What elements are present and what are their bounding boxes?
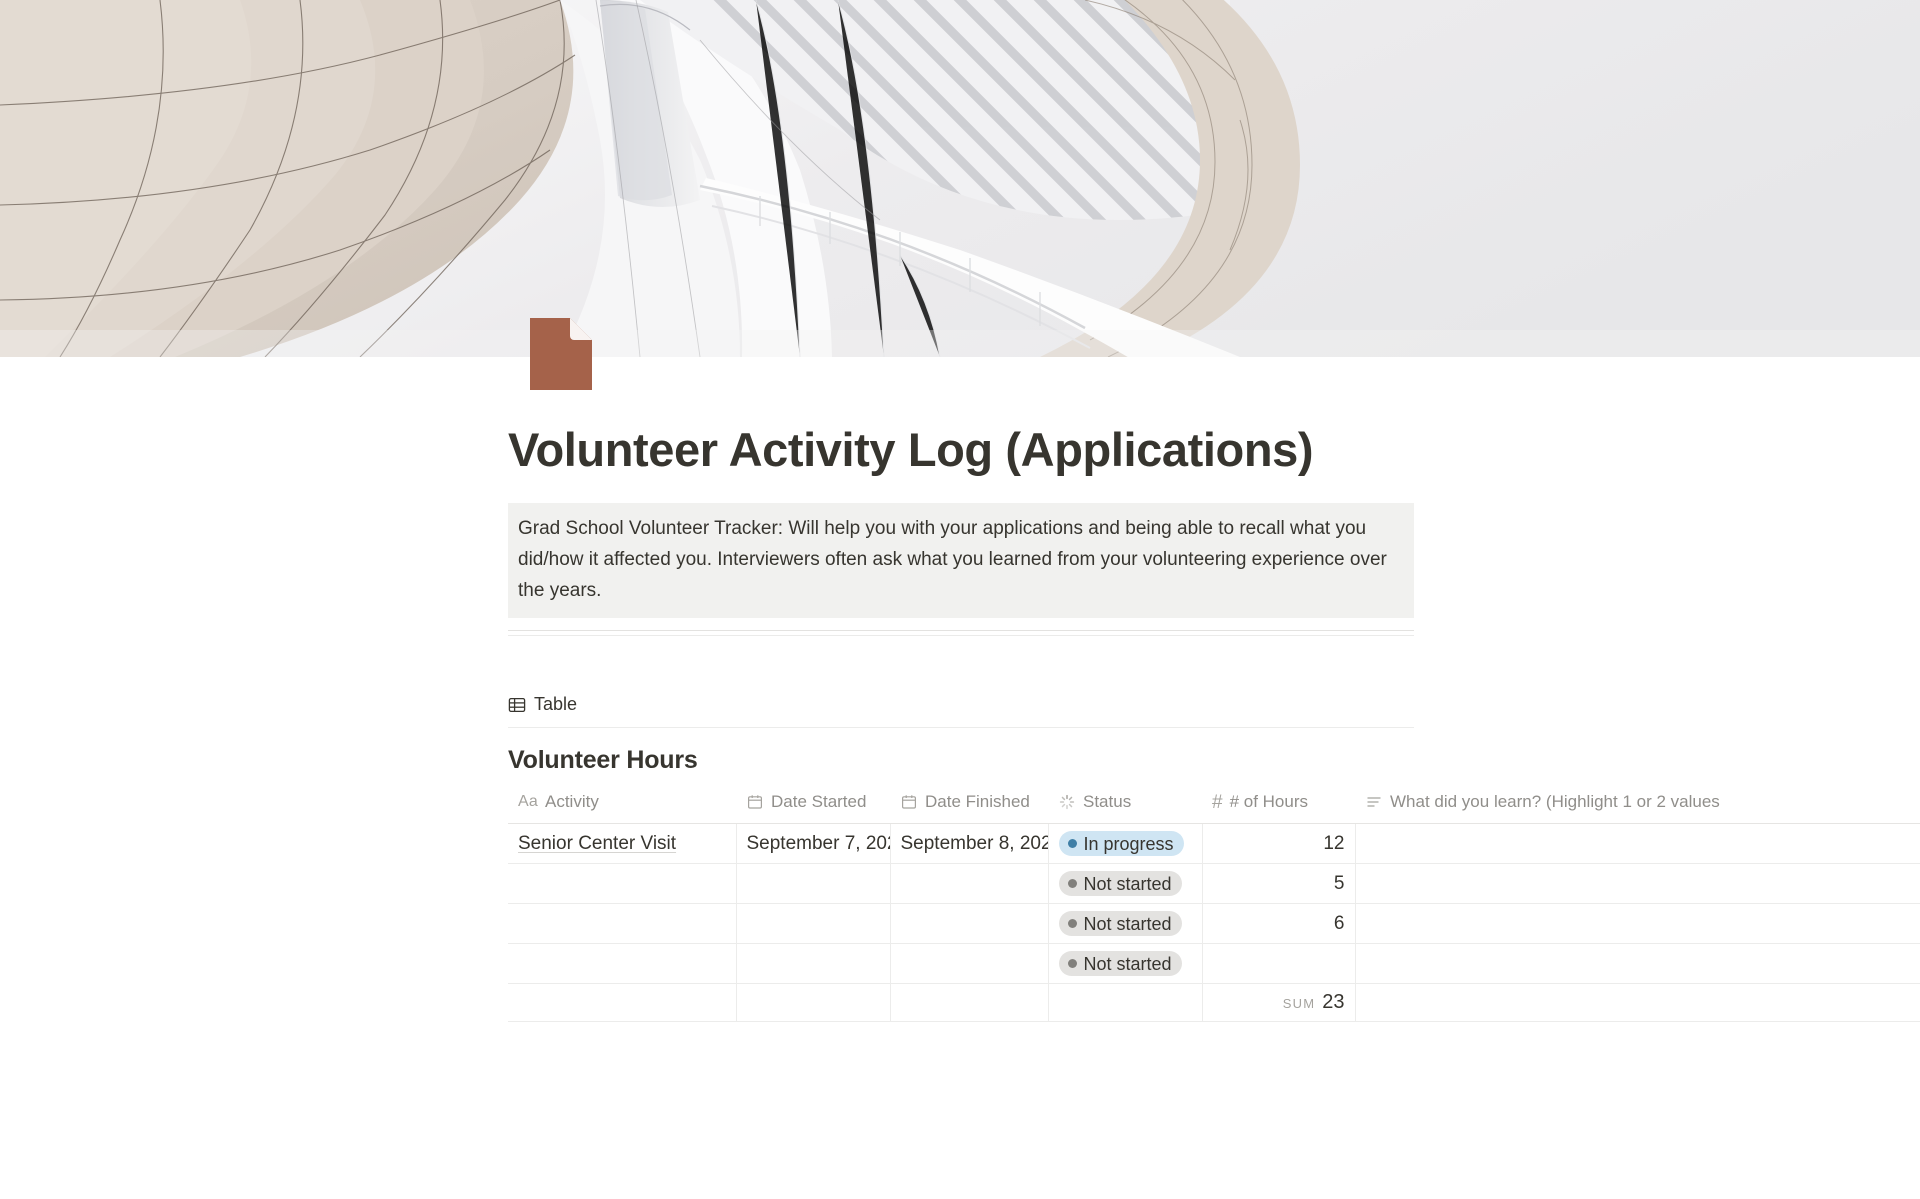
- cell-hours[interactable]: [1202, 944, 1355, 984]
- footer-spacer-activity: [508, 984, 736, 1022]
- sum-label: SUM: [1283, 996, 1316, 1011]
- table-body: Senior Center Visit September 7, 2024 Se…: [508, 824, 1920, 1022]
- cell-activity[interactable]: [508, 864, 736, 904]
- database-title[interactable]: Volunteer Hours: [508, 746, 1414, 775]
- status-badge-label: Not started: [1084, 955, 1172, 973]
- status-dot-icon: [1068, 959, 1077, 968]
- table-row[interactable]: Senior Center Visit September 7, 2024 Se…: [508, 824, 1920, 864]
- volunteer-hours-table: Aa Activity: [508, 788, 1920, 1022]
- status-dot-icon: [1068, 919, 1077, 928]
- status-dot-icon: [1068, 839, 1077, 848]
- content-divider: [508, 630, 1414, 631]
- table-row[interactable]: Not started 5: [508, 864, 1920, 904]
- table-row[interactable]: Not started 6: [508, 904, 1920, 944]
- cell-learned[interactable]: [1355, 864, 1920, 904]
- calendar-icon: [746, 793, 764, 811]
- notion-page: Volunteer Activity Log (Applications) Gr…: [0, 0, 1920, 1199]
- column-header-status[interactable]: Status: [1048, 788, 1202, 824]
- cell-date-finished[interactable]: [890, 944, 1048, 984]
- status-badge-label: Not started: [1084, 875, 1172, 893]
- footer-spacer-learned: [1355, 984, 1920, 1022]
- page-title[interactable]: Volunteer Activity Log (Applications): [508, 419, 1418, 481]
- column-header-activity-label: Activity: [545, 792, 599, 812]
- cell-status[interactable]: Not started: [1048, 944, 1202, 984]
- column-header-learned[interactable]: What did you learn? (Highlight 1 or 2 va…: [1355, 788, 1920, 824]
- column-header-date-started[interactable]: Date Started: [736, 788, 890, 824]
- cell-activity[interactable]: [508, 944, 736, 984]
- cell-activity[interactable]: Senior Center Visit: [508, 824, 736, 864]
- cell-date-started[interactable]: [736, 904, 890, 944]
- cell-status[interactable]: Not started: [1048, 904, 1202, 944]
- page-description-text: Grad School Volunteer Tracker: Will help…: [512, 513, 1410, 606]
- page-content: Volunteer Activity Log (Applications) Gr…: [508, 357, 1920, 1022]
- cell-hours[interactable]: 6: [1202, 904, 1355, 944]
- column-header-date-finished[interactable]: Date Finished: [890, 788, 1048, 824]
- column-header-date-started-label: Date Started: [771, 792, 866, 812]
- cell-date-finished[interactable]: [890, 904, 1048, 944]
- cell-status[interactable]: In progress: [1048, 824, 1202, 864]
- cell-learned[interactable]: [1355, 904, 1920, 944]
- status-badge-label: In progress: [1084, 835, 1174, 853]
- table-header-row: Aa Activity: [508, 788, 1920, 824]
- table-icon: [508, 696, 526, 714]
- status-dot-icon: [1068, 879, 1077, 888]
- cell-learned[interactable]: [1355, 824, 1920, 864]
- page-description-callout[interactable]: Grad School Volunteer Tracker: Will help…: [508, 503, 1414, 618]
- column-header-hours[interactable]: # # of Hours: [1202, 788, 1355, 824]
- calendar-icon: [900, 793, 918, 811]
- column-header-status-label: Status: [1083, 792, 1131, 812]
- footer-spacer-finish: [890, 984, 1048, 1022]
- title-aa-icon: Aa: [518, 793, 538, 811]
- page-cover-image[interactable]: [0, 0, 1920, 357]
- hours-sum-aggregation[interactable]: SUM23: [1202, 984, 1355, 1022]
- cell-activity[interactable]: [508, 904, 736, 944]
- table-footer-row: SUM23: [508, 984, 1920, 1022]
- status-badge[interactable]: In progress: [1059, 831, 1184, 856]
- cell-hours[interactable]: 12: [1202, 824, 1355, 864]
- cell-date-finished[interactable]: [890, 864, 1048, 904]
- status-spinner-icon: [1058, 793, 1076, 811]
- footer-spacer-status: [1048, 984, 1202, 1022]
- column-header-learned-label: What did you learn? (Highlight 1 or 2 va…: [1390, 792, 1720, 812]
- cell-date-finished[interactable]: September 8, 2024: [890, 824, 1048, 864]
- status-badge[interactable]: Not started: [1059, 871, 1182, 896]
- number-hash-icon: #: [1212, 793, 1223, 812]
- table-row[interactable]: Not started: [508, 944, 1920, 984]
- content-divider-secondary: [508, 635, 1414, 636]
- tab-table-view[interactable]: Table: [508, 694, 577, 723]
- status-badge-label: Not started: [1084, 915, 1172, 933]
- text-lines-icon: [1365, 793, 1383, 811]
- cell-date-started[interactable]: September 7, 2024: [736, 824, 890, 864]
- tab-table-label: Table: [534, 694, 577, 715]
- sum-value: 23: [1322, 991, 1344, 1013]
- row-title-link[interactable]: Senior Center Visit: [518, 833, 676, 854]
- cell-date-started[interactable]: [736, 864, 890, 904]
- cell-status[interactable]: Not started: [1048, 864, 1202, 904]
- status-badge[interactable]: Not started: [1059, 951, 1182, 976]
- column-header-hours-label: # of Hours: [1230, 792, 1308, 812]
- cover-artwork: [0, 0, 1920, 357]
- footer-spacer-start: [736, 984, 890, 1022]
- column-header-activity[interactable]: Aa Activity: [508, 788, 736, 824]
- cell-learned[interactable]: [1355, 944, 1920, 984]
- cell-date-started[interactable]: [736, 944, 890, 984]
- cell-hours[interactable]: 5: [1202, 864, 1355, 904]
- status-badge[interactable]: Not started: [1059, 911, 1182, 936]
- database-view-bar: Table: [508, 690, 1414, 728]
- column-header-date-finished-label: Date Finished: [925, 792, 1030, 812]
